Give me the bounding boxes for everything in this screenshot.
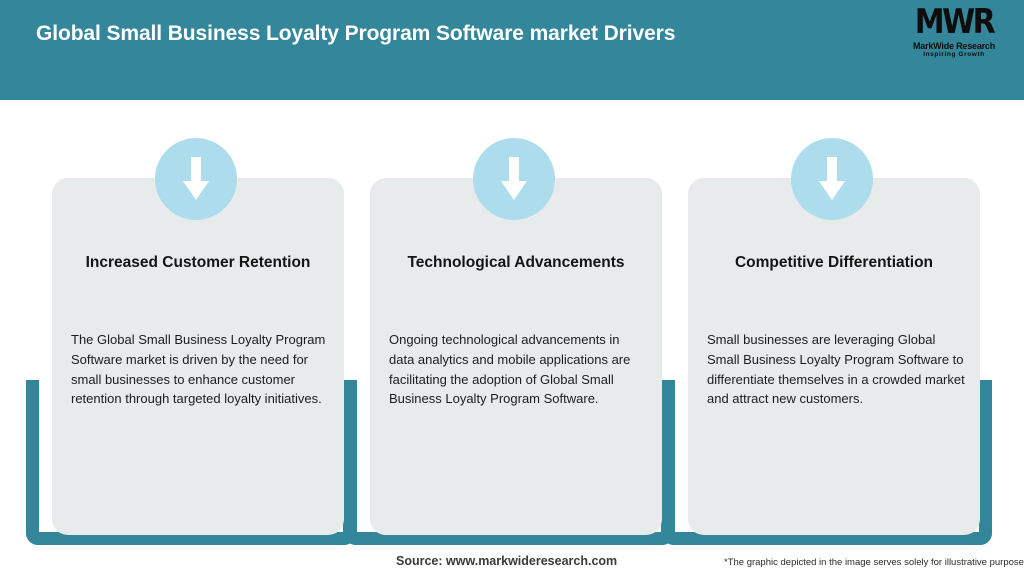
driver-card-title-3: Competitive Differentiation xyxy=(704,252,964,275)
brand-logo: MWR MarkWide Research Inspiring Growth xyxy=(902,8,1006,59)
driver-cards-container: Increased Customer Retention The Global … xyxy=(0,100,1024,540)
driver-card-body-2: Ongoing technological advancements in da… xyxy=(389,330,648,409)
driver-card-group-1: Increased Customer Retention The Global … xyxy=(26,100,356,540)
logo-company-name: MarkWide Research xyxy=(902,42,1006,51)
driver-card-title-1: Increased Customer Retention xyxy=(68,252,328,275)
logo-tagline: Inspiring Growth xyxy=(902,52,1006,59)
header-bar: Global Small Business Loyalty Program So… xyxy=(0,0,1024,100)
driver-card-group-3: Competitive Differentiation Small busine… xyxy=(662,100,992,540)
driver-card-3[interactable]: Competitive Differentiation Small busine… xyxy=(688,178,980,535)
arrow-down-icon xyxy=(791,138,873,220)
page-title: Global Small Business Loyalty Program So… xyxy=(36,22,675,46)
driver-card-body-3: Small businesses are leveraging Global S… xyxy=(707,330,966,409)
logo-monogram-icon: MWR xyxy=(902,6,1006,40)
driver-card-2[interactable]: Technological Advancements Ongoing techn… xyxy=(370,178,662,535)
arrow-down-icon xyxy=(155,138,237,220)
footer-source-label: Source: www.markwideresearch.com xyxy=(396,554,617,568)
driver-card-1[interactable]: Increased Customer Retention The Global … xyxy=(52,178,344,535)
driver-card-group-2: Technological Advancements Ongoing techn… xyxy=(344,100,674,540)
driver-card-title-2: Technological Advancements xyxy=(386,252,646,275)
arrow-down-icon xyxy=(473,138,555,220)
driver-card-body-1: The Global Small Business Loyalty Progra… xyxy=(71,330,330,409)
footer-disclaimer-label: *The graphic depicted in the image serve… xyxy=(724,557,1024,568)
